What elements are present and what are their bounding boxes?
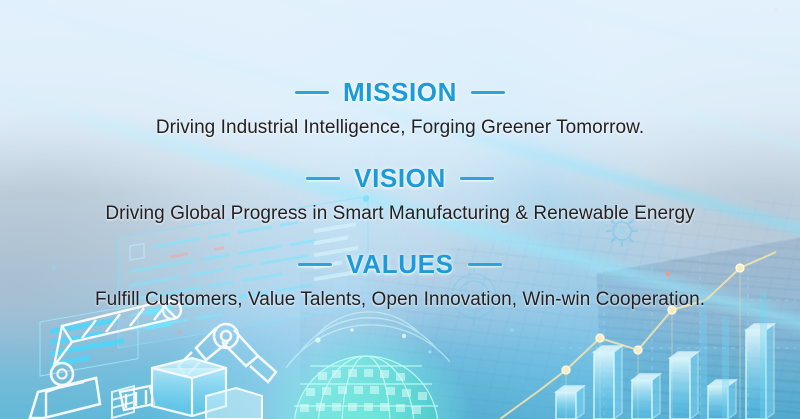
mission-tagline: Driving Industrial Intelligence, Forging… <box>0 115 800 141</box>
values-heading-row: VALUES <box>0 250 800 278</box>
mission-heading: MISSION <box>343 78 457 106</box>
mission-vision-values-banner: MISSION Driving Industrial Intelligence,… <box>0 0 800 419</box>
dash-left-icon <box>295 91 329 94</box>
vision-heading: VISION <box>354 164 446 192</box>
vision-tagline: Driving Global Progress in Smart Manufac… <box>0 201 800 227</box>
dash-left-icon <box>306 177 340 180</box>
banner-content: MISSION Driving Industrial Intelligence,… <box>0 0 800 419</box>
vision-block: VISION Driving Global Progress in Smart … <box>0 164 800 227</box>
dash-right-icon <box>468 263 502 266</box>
mission-heading-row: MISSION <box>0 78 800 106</box>
values-block: VALUES Fulfill Customers, Value Talents,… <box>0 250 800 313</box>
dash-left-icon <box>298 263 332 266</box>
values-heading: VALUES <box>346 250 453 278</box>
dash-right-icon <box>460 177 494 180</box>
values-tagline: Fulfill Customers, Value Talents, Open I… <box>0 287 800 313</box>
mission-block: MISSION Driving Industrial Intelligence,… <box>0 78 800 141</box>
dash-right-icon <box>471 91 505 94</box>
vision-heading-row: VISION <box>0 164 800 192</box>
